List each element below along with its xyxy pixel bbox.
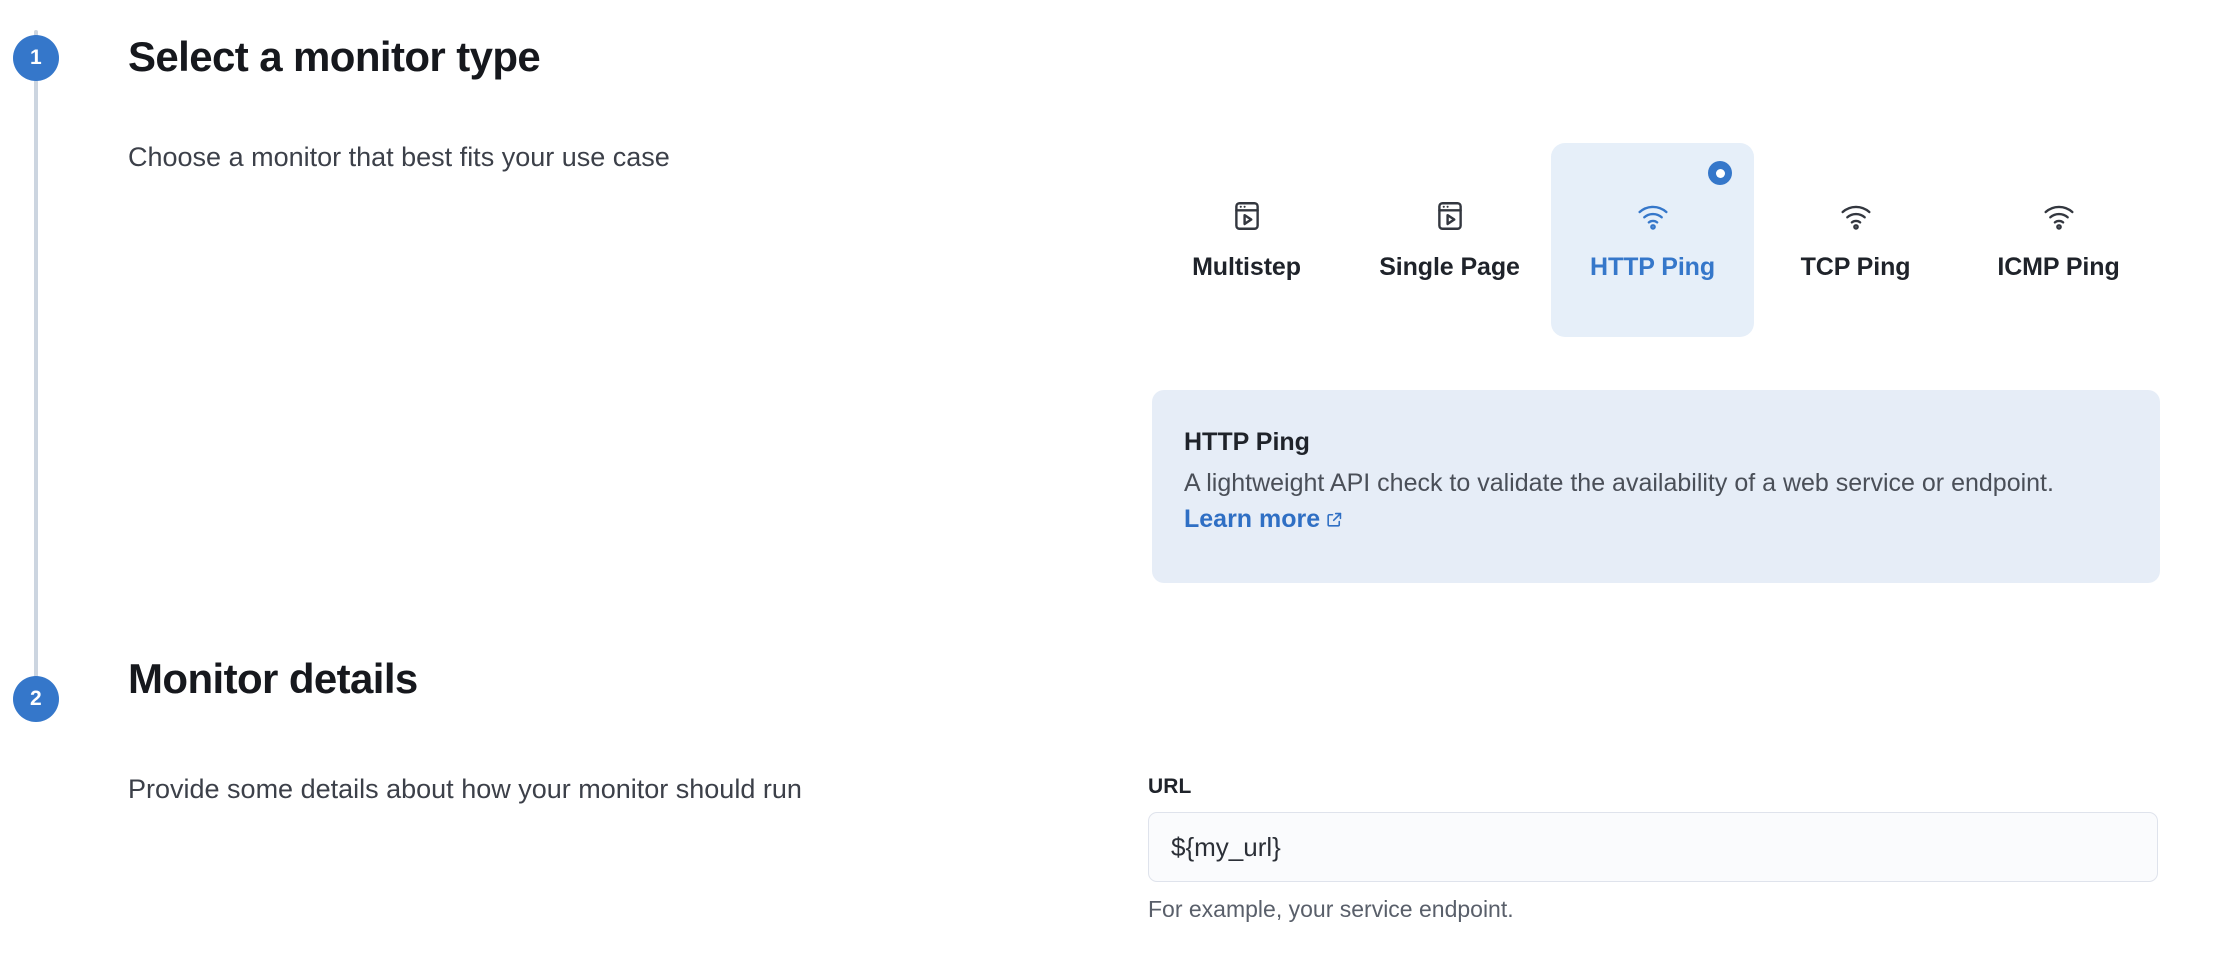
monitor-type-option-http-ping[interactable]: HTTP Ping	[1551, 143, 1754, 337]
wifi-signal-icon	[1839, 199, 1873, 233]
step-bullet-2: 2	[13, 676, 59, 722]
step-bullet-2-number: 2	[30, 687, 42, 711]
url-field-help: For example, your service endpoint.	[1148, 896, 2158, 923]
step-2-subtitle: Provide some details about how your moni…	[128, 772, 802, 807]
wifi-signal-icon	[2042, 199, 2076, 233]
step-2-title: Monitor details	[128, 655, 418, 702]
monitor-type-info-box: HTTP Ping A lightweight API check to val…	[1152, 390, 2160, 583]
wifi-signal-icon	[1636, 199, 1670, 233]
monitor-type-label-single-page: Single Page	[1379, 253, 1520, 282]
info-box-body: A lightweight API check to validate the …	[1184, 466, 2120, 537]
browser-play-icon	[1230, 199, 1264, 233]
url-field-label: URL	[1148, 775, 2158, 799]
info-box-description: A lightweight API check to validate the …	[1184, 469, 2054, 497]
monitor-type-label-icmp-ping: ICMP Ping	[1997, 253, 2119, 282]
browser-play-icon	[1433, 199, 1467, 233]
monitor-type-label-tcp-ping: TCP Ping	[1801, 253, 1911, 282]
step-1-title: Select a monitor type	[128, 33, 540, 80]
monitor-setup-page: 1 2 Select a monitor type Choose a monit…	[0, 0, 2218, 958]
monitor-type-label-multistep: Multistep	[1192, 253, 1301, 282]
monitor-type-option-tcp-ping[interactable]: TCP Ping	[1754, 143, 1957, 337]
step-bullet-1: 1	[13, 35, 59, 81]
info-box-title: HTTP Ping	[1184, 428, 2120, 457]
monitor-type-selector: Multistep Single Page	[1145, 143, 2160, 337]
url-input[interactable]	[1148, 812, 2158, 882]
step-bullet-1-number: 1	[30, 46, 42, 70]
monitor-type-option-icmp-ping[interactable]: ICMP Ping	[1957, 143, 2160, 337]
monitor-type-label-http-ping: HTTP Ping	[1590, 253, 1715, 282]
monitor-type-option-multistep[interactable]: Multistep	[1145, 143, 1348, 337]
learn-more-link[interactable]: Learn more	[1184, 505, 1344, 533]
learn-more-label: Learn more	[1184, 505, 1320, 533]
step-1-subtitle: Choose a monitor that best fits your use…	[128, 140, 670, 175]
monitor-type-option-single-page[interactable]: Single Page	[1348, 143, 1551, 337]
radio-selected-icon[interactable]	[1708, 161, 1732, 185]
external-link-icon	[1325, 504, 1344, 523]
stepper-connector-line	[34, 30, 38, 690]
url-field-group: URL For example, your service endpoint.	[1148, 775, 2158, 923]
